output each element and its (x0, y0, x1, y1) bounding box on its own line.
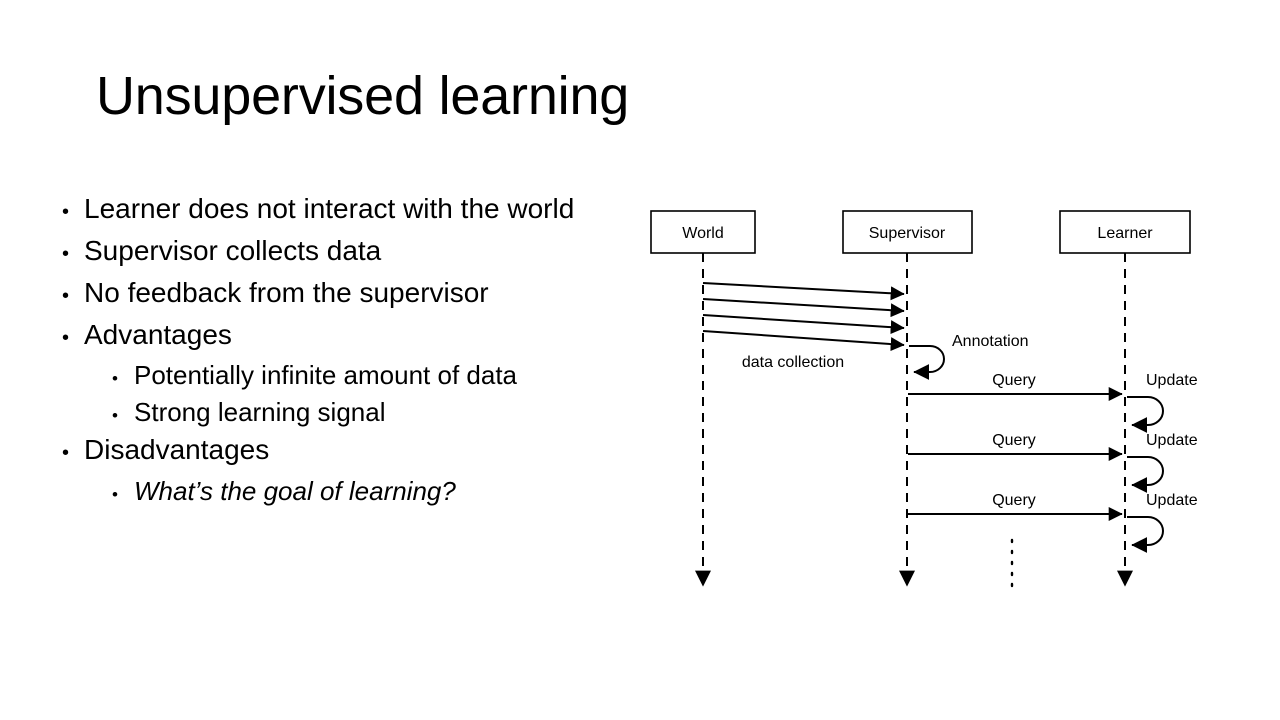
lifeline-label-world: World (682, 225, 724, 242)
page-title: Unsupervised learning (96, 68, 629, 125)
message-data-collection-2 (703, 299, 904, 311)
bullet-marker-icon: • (62, 328, 84, 348)
list-item-label: What’s the goal of learning? (134, 476, 456, 507)
bullet-marker-icon: • (62, 202, 84, 222)
edge-label-query-3: Query (992, 492, 1036, 509)
message-data-collection-4 (703, 331, 904, 345)
edge-label-query-2: Query (992, 432, 1036, 449)
list-item: • Potentially infinite amount of data (62, 360, 662, 391)
bullet-marker-icon: • (112, 407, 134, 424)
lifeline-label-learner: Learner (1097, 225, 1153, 242)
bullet-marker-icon: • (112, 370, 134, 387)
message-update-1 (1127, 397, 1163, 425)
list-item: • Disadvantages (62, 433, 662, 466)
edge-label-data-collection: data collection (742, 354, 844, 371)
list-item: • Advantages (62, 318, 662, 351)
list-item: • No feedback from the supervisor (62, 276, 662, 309)
bullet-marker-icon: • (62, 443, 84, 463)
edge-label-query-1: Query (992, 372, 1036, 389)
message-update-3 (1127, 517, 1163, 545)
lifeline-box-world: World (651, 211, 755, 253)
list-item-label: Strong learning signal (134, 397, 386, 428)
bullet-marker-icon: • (62, 244, 84, 264)
list-item: • Strong learning signal (62, 397, 662, 428)
list-item-label: Learner does not interact with the world (84, 192, 574, 225)
message-data-collection-3 (703, 315, 904, 328)
list-item-label: Potentially infinite amount of data (134, 360, 517, 391)
bullet-marker-icon: • (62, 286, 84, 306)
message-data-collection-1 (703, 283, 904, 294)
lifeline-box-supervisor: Supervisor (843, 211, 972, 253)
list-item: • Learner does not interact with the wor… (62, 192, 662, 225)
sequence-diagram: World Supervisor Learner data collection (630, 195, 1230, 625)
list-item-label: No feedback from the supervisor (84, 276, 489, 309)
bullet-list: • Learner does not interact with the wor… (62, 192, 662, 512)
edge-label-update-3: Update (1146, 492, 1198, 509)
edge-label-annotation: Annotation (952, 333, 1029, 350)
message-annotation-loop (909, 346, 944, 372)
bullet-marker-icon: • (112, 486, 134, 503)
edge-label-update-1: Update (1146, 372, 1198, 389)
lifeline-label-supervisor: Supervisor (869, 225, 946, 242)
list-item-label: Disadvantages (84, 433, 269, 466)
list-item-label: Advantages (84, 318, 232, 351)
edge-label-update-2: Update (1146, 432, 1198, 449)
list-item: • What’s the goal of learning? (62, 476, 662, 507)
list-item-label: Supervisor collects data (84, 234, 381, 267)
lifeline-box-learner: Learner (1060, 211, 1190, 253)
list-item: • Supervisor collects data (62, 234, 662, 267)
message-update-2 (1127, 457, 1163, 485)
